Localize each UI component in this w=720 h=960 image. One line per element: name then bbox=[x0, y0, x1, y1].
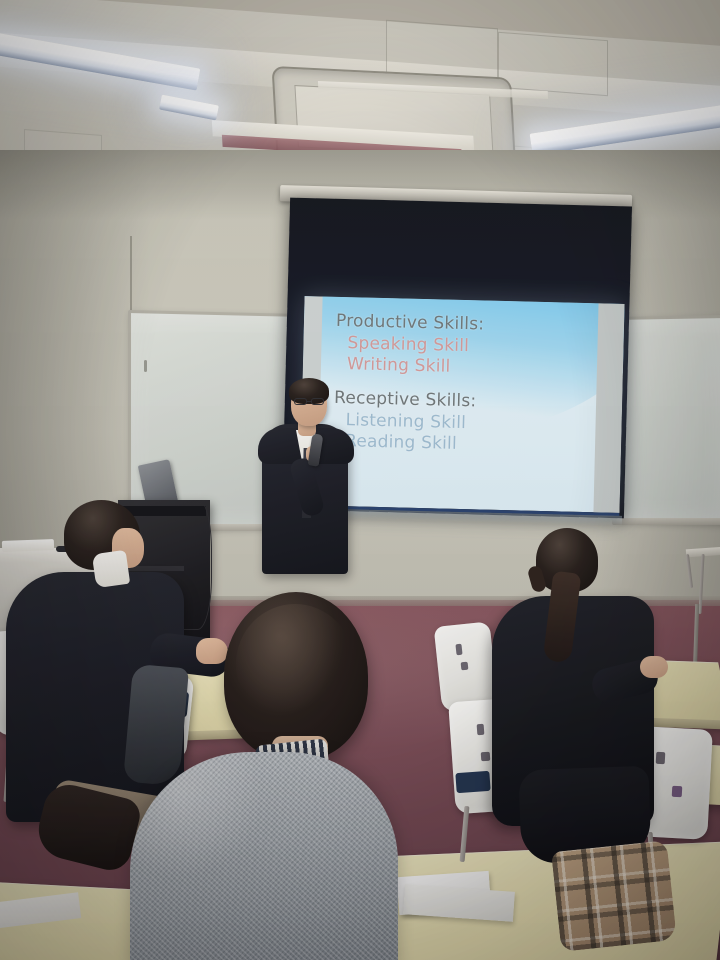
chair-slot bbox=[481, 752, 491, 762]
attendee-left-hands bbox=[196, 638, 228, 664]
chair-slot bbox=[672, 786, 683, 798]
hair-highlight bbox=[236, 604, 354, 724]
attendee-foreground-sweater bbox=[130, 752, 398, 960]
glasses-icon bbox=[311, 398, 324, 405]
projected-slide: Productive Skills: Speaking Skill Writin… bbox=[299, 296, 624, 516]
whiteboard-right-tray bbox=[612, 518, 720, 525]
counter-papers bbox=[2, 539, 54, 552]
glasses-bridge bbox=[307, 401, 311, 402]
ceiling-tile bbox=[498, 32, 608, 96]
chair-slot bbox=[461, 662, 469, 671]
chair-slot bbox=[656, 752, 666, 764]
whiteboard-right bbox=[615, 315, 720, 523]
photo-scene: Productive Skills: Speaking Skill Writin… bbox=[0, 0, 720, 960]
plaid-bag bbox=[551, 840, 677, 952]
slide-content: Productive Skills: Speaking Skill Writin… bbox=[300, 296, 625, 513]
chair-slot bbox=[477, 724, 485, 735]
glasses-icon bbox=[294, 398, 307, 405]
chair-slot bbox=[455, 644, 462, 656]
attendee-left-collar bbox=[92, 550, 130, 588]
attendee-right-hand bbox=[640, 656, 668, 678]
chair-cushion bbox=[455, 771, 490, 793]
whiteboard-bracket bbox=[144, 360, 147, 372]
